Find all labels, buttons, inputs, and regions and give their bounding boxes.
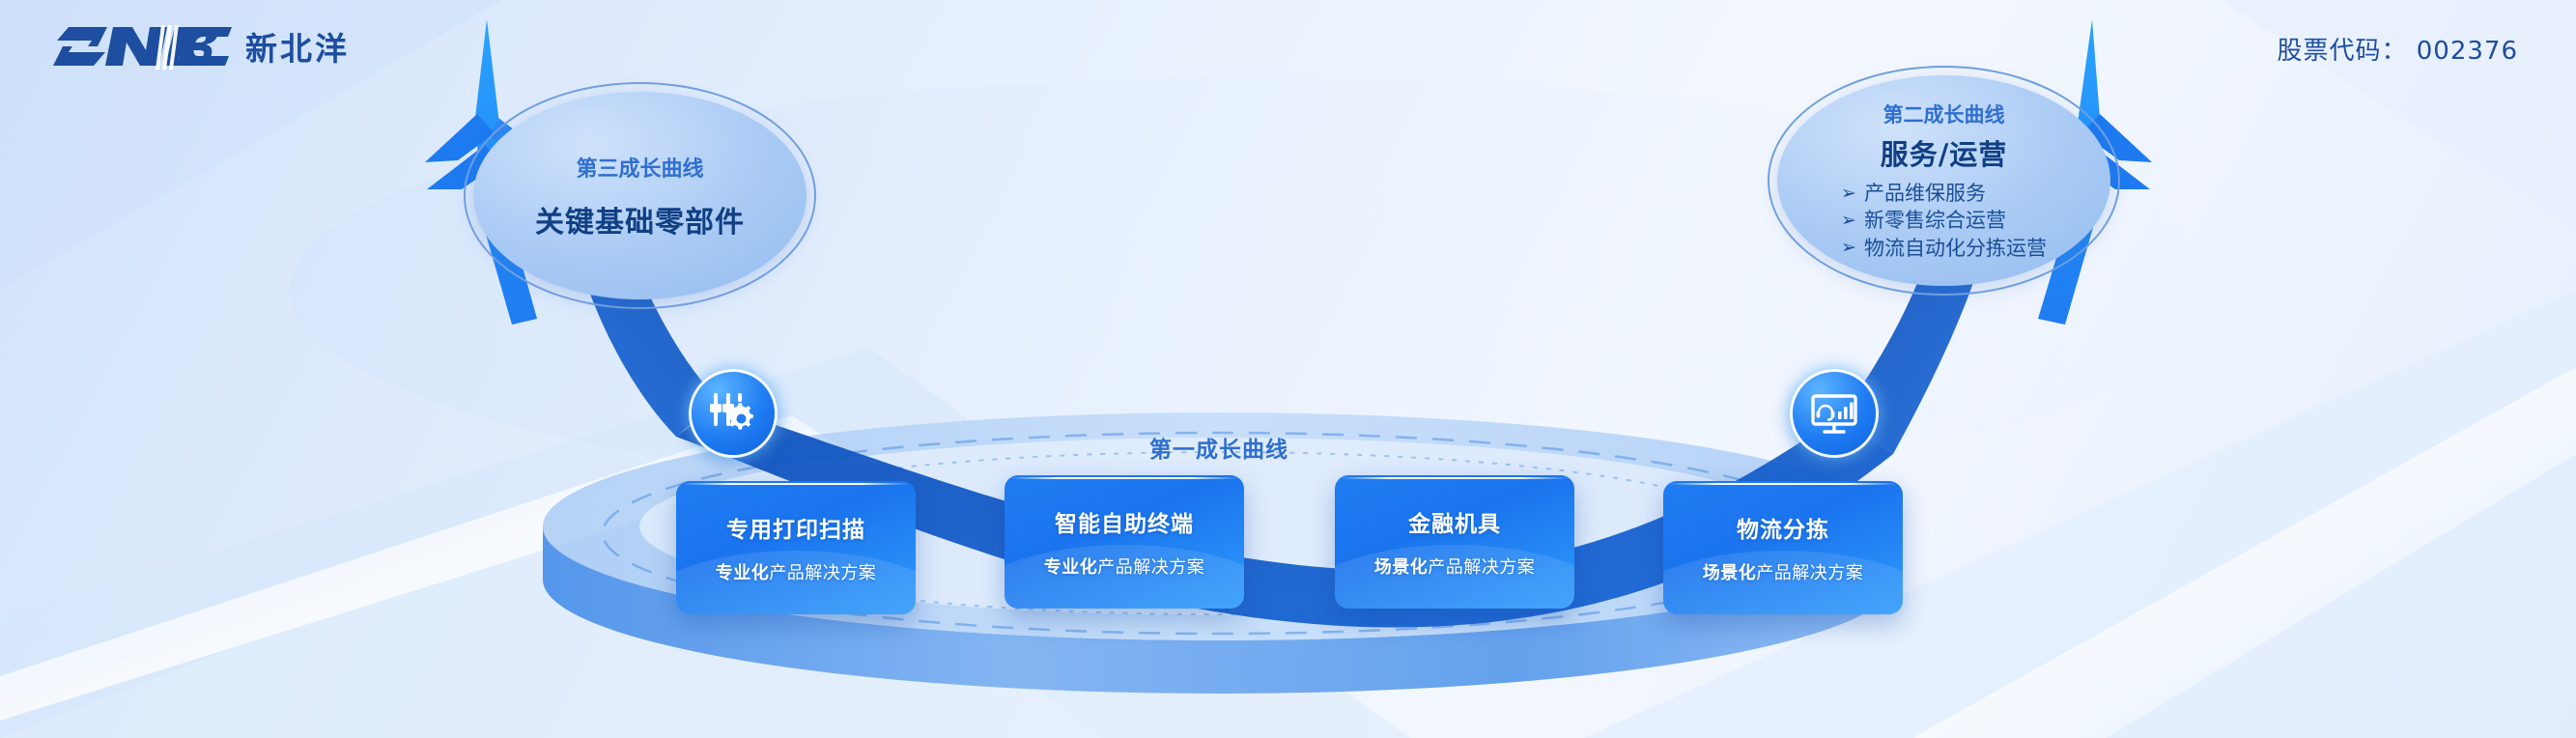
product-card[interactable]: 专用打印扫描 专业化产品解决方案: [676, 481, 916, 614]
card-subtitle-rest: 产品解决方案: [1756, 563, 1863, 583]
sliders-gear-badge[interactable]: [692, 372, 775, 455]
brand-logo: 新北洋: [53, 21, 350, 71]
growth-curve-scene: [0, 0, 2576, 738]
second-growth-curve-bubble[interactable]: 第二成长曲线 服务/运营 ➢ 产品维保服务 ➢ 新零售综合运营 ➢ 物流自动化分…: [1777, 75, 2110, 286]
card-title: 智能自助终端: [1055, 505, 1194, 538]
chevron-right-icon: ➢: [1841, 184, 1856, 203]
card-top-edge: [1341, 477, 1569, 479]
card-subtitle-rest: 产品解决方案: [1097, 557, 1204, 578]
card-top-edge: [1669, 483, 1897, 485]
list-item: ➢ 产品维保服务: [1841, 180, 2047, 207]
card-subtitle-rest: 产品解决方案: [1428, 557, 1535, 578]
card-subtitle-rest: 产品解决方案: [769, 563, 876, 583]
card-title: 专用打印扫描: [726, 511, 865, 544]
list-item: ➢ 新零售综合运营: [1841, 207, 2047, 234]
card-subtitle: 专业化产品解决方案: [716, 559, 877, 584]
card-title: 物流分拣: [1737, 511, 1829, 544]
stock-code-label: 股票代码： 002376: [2277, 31, 2518, 67]
card-subtitle: 场景化产品解决方案: [1703, 559, 1864, 584]
snbc-wordmark-icon: [53, 21, 232, 71]
card-top-edge: [682, 483, 910, 485]
sliders-gear-icon: [707, 387, 759, 440]
third-growth-curve-bubble[interactable]: 第三成长曲线 关键基础零部件: [473, 92, 807, 299]
first-curve-label: 第一成长曲线: [1149, 431, 1288, 464]
monitor-headset-chart-icon: [1808, 387, 1860, 440]
second-curve-bullet-list: ➢ 产品维保服务 ➢ 新零售综合运营 ➢ 物流自动化分拣运营: [1841, 180, 2047, 261]
card-subtitle: 专业化产品解决方案: [1044, 553, 1205, 579]
product-card[interactable]: 金融机具 场景化产品解决方案: [1335, 475, 1574, 609]
product-card[interactable]: 物流分拣 场景化产品解决方案: [1663, 481, 1903, 614]
logo-chinese-text: 新北洋: [245, 23, 350, 70]
second-curve-label: 第二成长曲线: [1800, 99, 2087, 128]
chevron-right-icon: ➢: [1841, 239, 1856, 257]
product-card[interactable]: 智能自助终端 专业化产品解决方案: [1005, 475, 1244, 609]
list-item-label: 产品维保服务: [1864, 180, 1986, 207]
card-top-edge: [1010, 477, 1238, 479]
chevron-right-icon: ➢: [1841, 212, 1856, 230]
card-title: 金融机具: [1408, 505, 1501, 538]
list-item-label: 物流自动化分拣运营: [1864, 235, 2047, 262]
card-subtitle-strong: 场景化: [1374, 557, 1429, 578]
card-subtitle-strong: 专业化: [1044, 557, 1098, 578]
card-subtitle-strong: 专业化: [716, 563, 770, 583]
third-curve-title: 关键基础零部件: [496, 198, 783, 241]
list-item: ➢ 物流自动化分拣运营: [1841, 235, 2047, 262]
card-subtitle-strong: 场景化: [1703, 563, 1757, 583]
service-operations-badge[interactable]: [1793, 372, 1876, 455]
infographic-canvas: 新北洋 股票代码： 002376 第三成长曲线 关键基础零部件 第二成长曲线 服…: [0, 0, 2576, 738]
card-subtitle: 场景化产品解决方案: [1374, 553, 1536, 579]
list-item-label: 新零售综合运营: [1864, 207, 2006, 234]
second-curve-title: 服务/运营: [1800, 132, 2087, 173]
third-curve-label: 第三成长曲线: [496, 152, 783, 183]
